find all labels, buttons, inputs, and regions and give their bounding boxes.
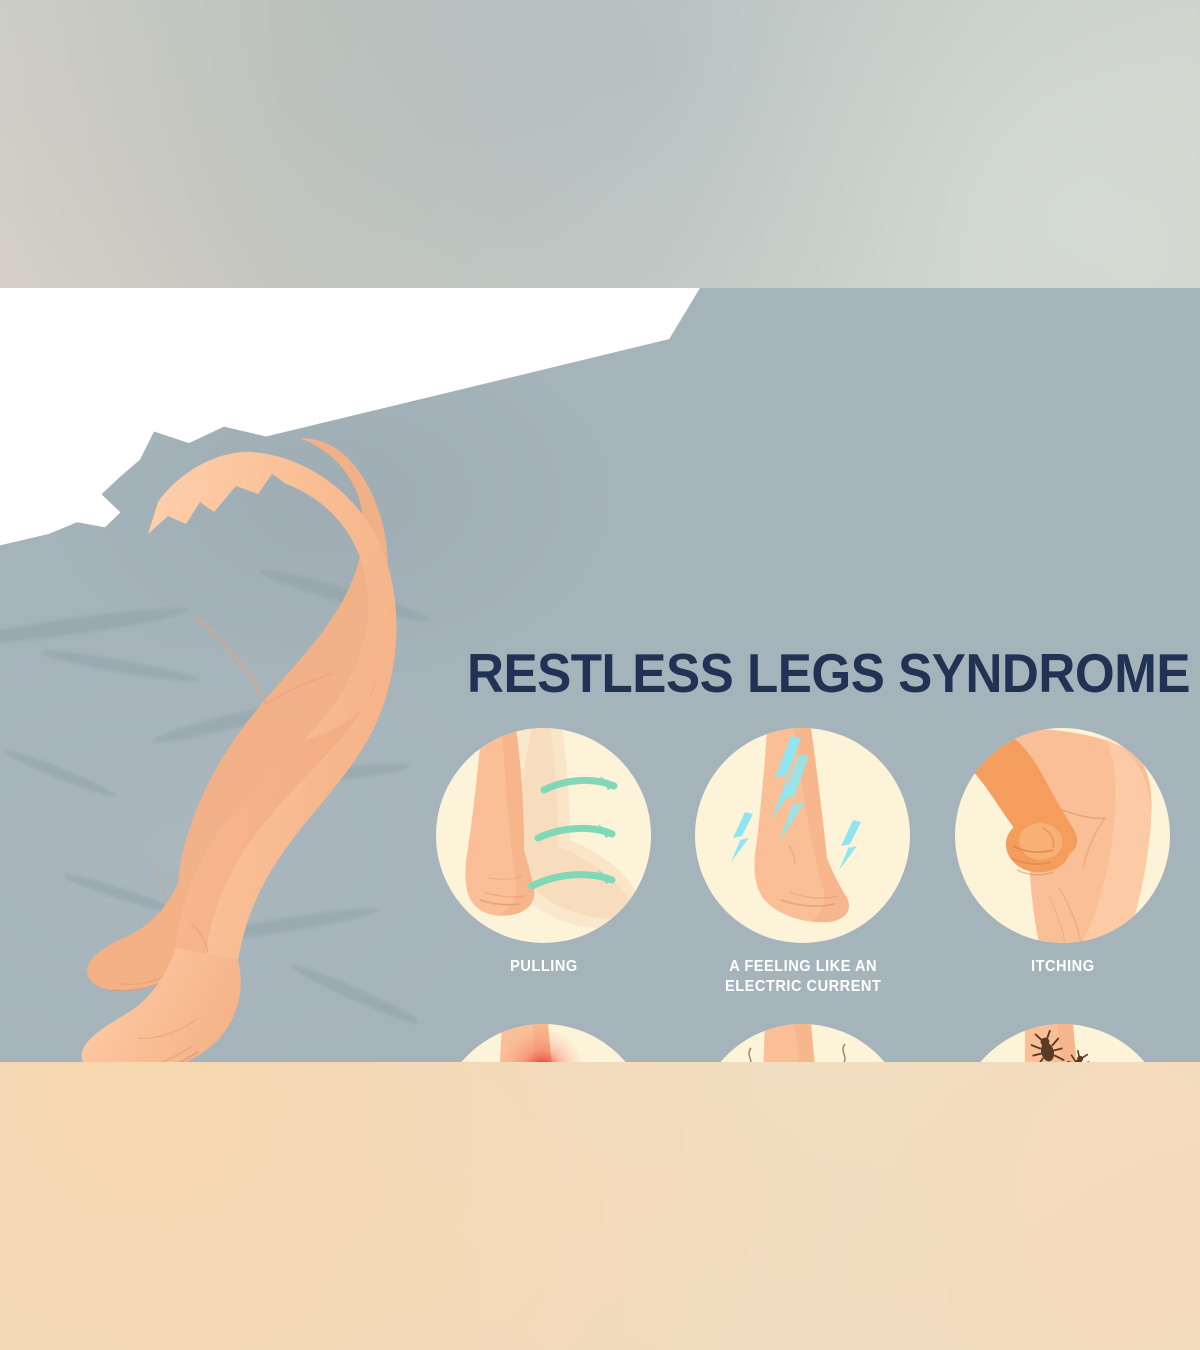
foot-with-vibration-lines-icon [695, 1024, 910, 1062]
foot-with-motion-arrows-icon [436, 728, 651, 943]
electric-current-illustration [695, 728, 910, 943]
symptom-card-throbbing[interactable]: THROBBING [677, 1024, 928, 1062]
knee-crease [196, 618, 266, 704]
symptom-card-bugs-crawling[interactable]: SENSATION LIKE BUGS ARE CRAWLING UNDER S… [937, 1024, 1188, 1062]
illustration-panel: RESTLESS LEGS SYNDROME [0, 288, 1200, 1062]
symptom-card-electric-current[interactable]: A FEELING LIKE AN ELECTRIC CURRENT [677, 728, 928, 988]
pulling-illustration [436, 728, 651, 943]
symptom-label: PULLING [510, 957, 578, 977]
foot-shading [795, 1024, 851, 1062]
symptom-label: ITCHING [1031, 957, 1095, 977]
hand-scratching-leg-icon [955, 728, 1170, 943]
symptom-card-aching[interactable]: ACHING [418, 1024, 669, 1062]
symptom-grid: PULLING [418, 728, 1188, 1062]
bugs-crawling-illustration [955, 1024, 1170, 1062]
throbbing-illustration [695, 1024, 910, 1062]
symptom-card-itching[interactable]: ITCHING [937, 728, 1188, 988]
ankle-line [154, 868, 166, 898]
foot-with-lightning-bolts-icon [695, 728, 910, 943]
pain-point-group [460, 1028, 584, 1062]
page-title: RESTLESS LEGS SYNDROME [455, 646, 1190, 701]
itching-illustration [955, 728, 1170, 943]
symptom-label: A FEELING LIKE AN ELECTRIC CURRENT [725, 957, 881, 997]
foot-with-pain-points-icon [436, 1024, 651, 1062]
aching-illustration [436, 1024, 651, 1062]
foot-with-bugs-icon [955, 1024, 1170, 1062]
symptom-card-pulling[interactable]: PULLING [418, 728, 669, 988]
